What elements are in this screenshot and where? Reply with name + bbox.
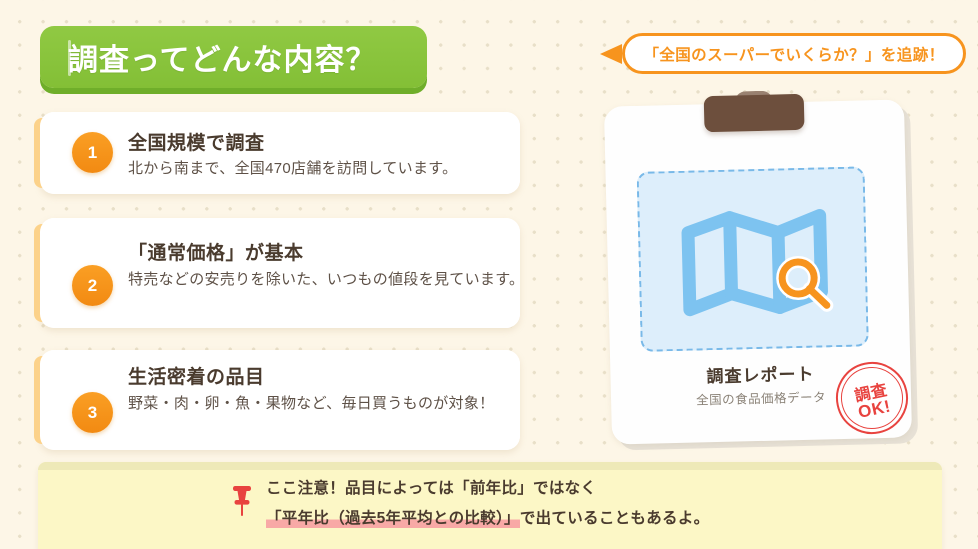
page-title-banner: 調査ってどんな内容？ (40, 26, 427, 88)
item-number-badge: 1 (72, 132, 113, 173)
list-item: 2 「通常価格」が基本 特売などの安売りを除いた、いつもの値段を見ています。 (40, 218, 520, 328)
clipboard-clip-icon (704, 94, 805, 132)
pushpin-icon (231, 484, 253, 518)
callout-arrow-icon (600, 44, 622, 64)
item-number-badge: 2 (72, 265, 113, 306)
note-box-top-strip (38, 462, 942, 470)
callout-bubble: 「全国のスーパーでいくらか？」を追跡！ (622, 33, 966, 74)
note-box: ここ注意！品目によっては「前年比」ではなく 「平年比（過去5年平均との比較）」で… (38, 462, 942, 549)
note-line-1: ここ注意！品目によっては「前年比」ではなく (266, 476, 596, 498)
item-card-body: 1 全国規模で調査 北から南まで、全国470店舗を訪問しています。 (40, 112, 520, 194)
item-title: 全国規模で調査 (128, 128, 265, 155)
note-line-2: 「平年比（過去5年平均との比較）」で出ていることもあるよ。 (266, 506, 709, 528)
list-item: 1 全国規模で調査 北から南まで、全国470店舗を訪問しています。 (40, 112, 520, 194)
item-description: 特売などの安売りを除いた、いつもの値段を見ています。 (128, 267, 528, 292)
item-card-body: 3 生活密着の品目 野菜・肉・卵・魚・果物など、毎日買うものが対象！ (40, 350, 520, 450)
item-title: 「通常価格」が基本 (128, 238, 304, 265)
callout-text: 「全国のスーパーでいくらか？」を追跡！ (643, 43, 944, 65)
item-card-body: 2 「通常価格」が基本 特売などの安売りを除いた、いつもの値段を見ています。 (40, 218, 520, 328)
item-title: 生活密着の品目 (128, 362, 265, 389)
note-line-2-rest: で出ていることもあるよ。 (520, 510, 710, 527)
note-highlighted-term: 「平年比（過去5年平均との比較）」 (266, 510, 520, 528)
clipboard-image-panel (637, 166, 869, 352)
magnifier-icon (774, 253, 835, 314)
item-description: 北から南まで、全国470店舗を訪問しています。 (128, 156, 528, 181)
item-description: 野菜・肉・卵・魚・果物など、毎日買うものが対象！ (128, 391, 528, 416)
infographic-canvas: 調査ってどんな内容？ 1 全国規模で調査 北から南まで、全国470店舗を訪問して… (0, 0, 978, 549)
list-item: 3 生活密着の品目 野菜・肉・卵・魚・果物など、毎日買うものが対象！ (40, 350, 520, 450)
item-number-badge: 3 (72, 392, 113, 433)
page-title: 調査ってどんな内容？ (68, 26, 377, 88)
